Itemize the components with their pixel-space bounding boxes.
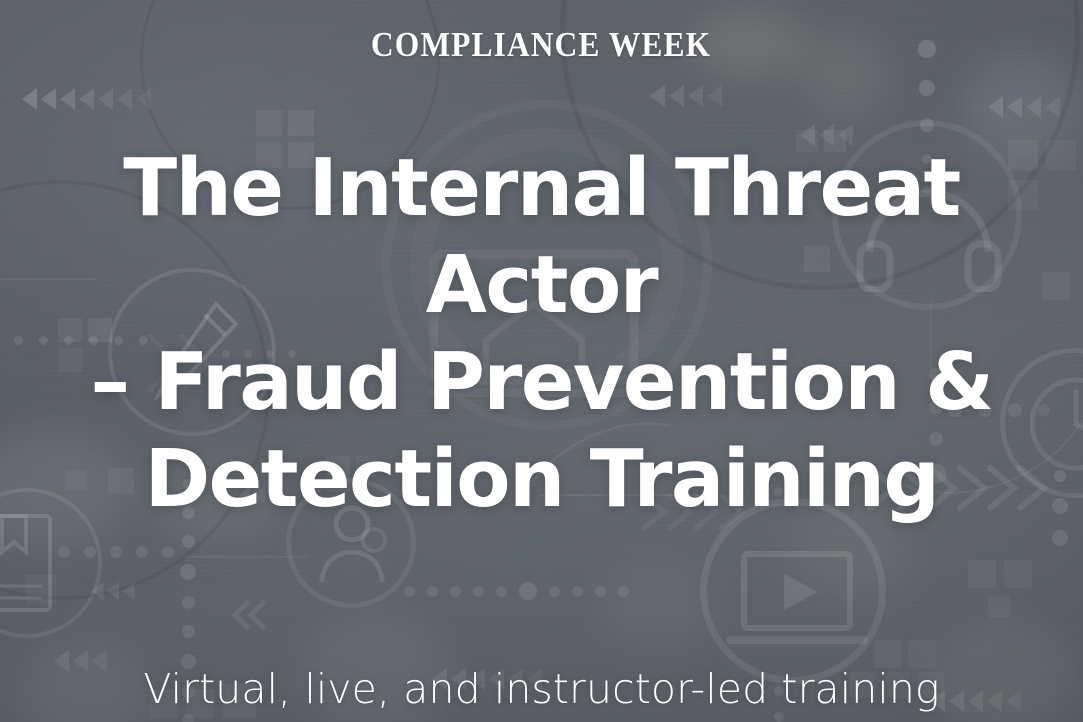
title-line-2: – Fraud Prevention & (37, 334, 1047, 431)
promo-banner: COMPLIANCE WEEK The Internal Threat Acto… (0, 0, 1083, 722)
page-title: The Internal Threat Actor – Fraud Preven… (37, 140, 1047, 528)
title-line-3: Detection Training (37, 431, 1047, 528)
banner-content: COMPLIANCE WEEK The Internal Threat Acto… (0, 0, 1083, 722)
event-subtitle: Virtual, live, and instructor-led traini… (143, 667, 939, 712)
compliance-week-logo: COMPLIANCE WEEK (371, 27, 711, 62)
title-line-1: The Internal Threat Actor (37, 140, 1047, 334)
